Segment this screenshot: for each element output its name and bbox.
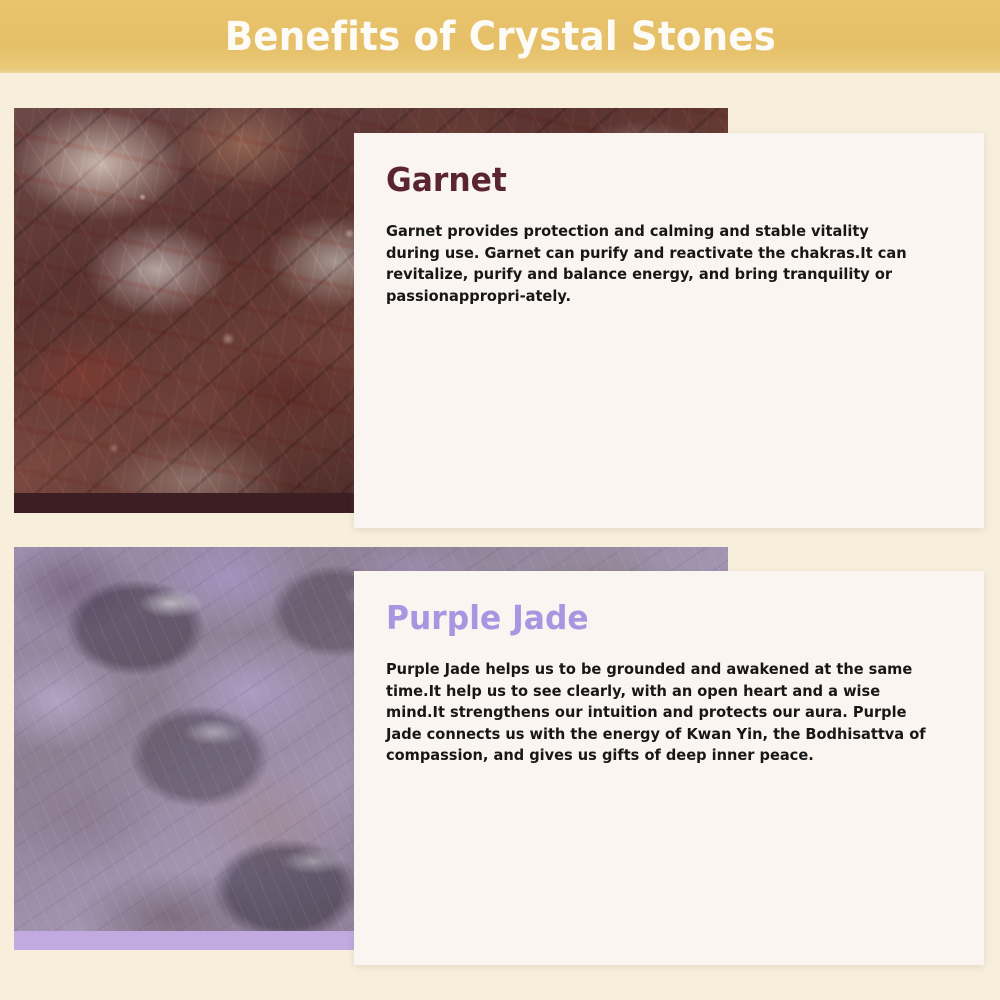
- purple-jade-card-title: Purple Jade: [386, 599, 922, 637]
- purple-jade-card-description: Purple Jade helps us to be grounded and …: [386, 659, 927, 767]
- purple-jade-info-card: Purple Jade Purple Jade helps us to be g…: [354, 571, 984, 965]
- garnet-info-card: Garnet Garnet provides protection and ca…: [354, 133, 984, 528]
- page-header-bar: Benefits of Crystal Stones: [0, 0, 1000, 73]
- page-body: Garnet Garnet provides protection and ca…: [0, 73, 1000, 1000]
- purple-jade-card-content: Purple Jade Purple Jade helps us to be g…: [354, 571, 984, 767]
- garnet-card-content: Garnet Garnet provides protection and ca…: [354, 133, 984, 307]
- garnet-card-title: Garnet: [386, 161, 922, 199]
- page-title: Benefits of Crystal Stones: [224, 17, 775, 57]
- garnet-card-description: Garnet provides protection and calming a…: [386, 221, 927, 307]
